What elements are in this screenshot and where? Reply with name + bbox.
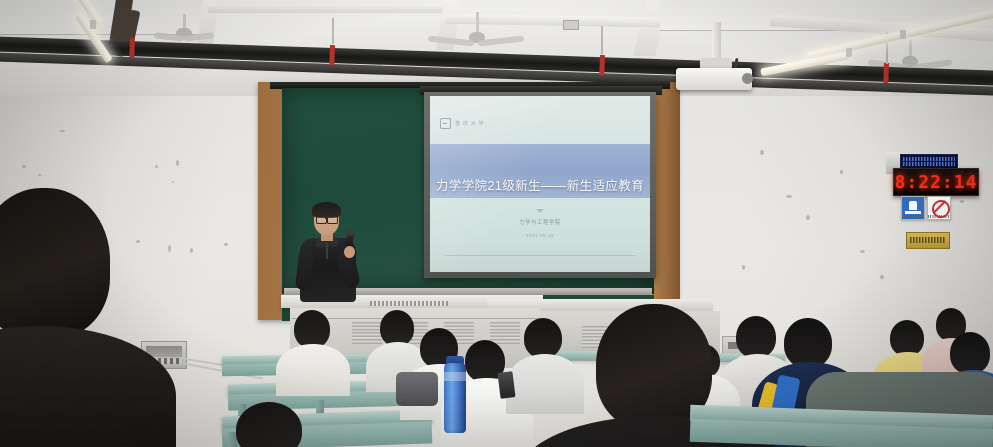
wall-mark bbox=[760, 150, 764, 155]
wall-mark bbox=[176, 160, 179, 166]
sign-caption-text bbox=[928, 215, 950, 218]
fan-rod bbox=[476, 12, 479, 34]
student-head bbox=[950, 332, 990, 374]
slide-subtitle: 力学与工程学院 bbox=[430, 218, 650, 226]
wall-mark bbox=[224, 243, 228, 246]
glasses-icon bbox=[327, 216, 338, 224]
student-shoulders bbox=[506, 354, 584, 414]
projector-pole bbox=[712, 22, 721, 62]
blue-sign-base-icon bbox=[905, 211, 921, 214]
tube-bracket bbox=[846, 48, 852, 57]
ceiling-projector bbox=[676, 68, 752, 90]
presenter-hand bbox=[344, 246, 355, 258]
rail-rod bbox=[601, 26, 603, 54]
plaque-text bbox=[910, 237, 946, 243]
projector-lens-icon bbox=[742, 73, 753, 84]
student-shoulders bbox=[276, 344, 350, 396]
sign-caption-text bbox=[902, 215, 924, 218]
wall-mark bbox=[880, 275, 884, 279]
slide-marker-icon bbox=[536, 209, 544, 213]
led-banner-row bbox=[903, 157, 955, 161]
led-banner-row bbox=[903, 162, 955, 166]
projection-screen[interactable]: 重 庆 大 学 力学学院21级新生——新生适应教育 力学与工程学院 2021.0… bbox=[430, 96, 650, 272]
lecture-hall-photo: 重 庆 大 学 力学学院21级新生——新生适应教育 力学与工程学院 2021.0… bbox=[0, 0, 993, 447]
slide-footer-line bbox=[445, 255, 634, 256]
glasses-bridge-icon bbox=[325, 218, 328, 219]
rail-hanger bbox=[883, 63, 889, 83]
slide-subtitle-block: 力学与工程学院 2021.09.18 bbox=[430, 198, 650, 238]
microphone-head-icon bbox=[345, 228, 354, 236]
wall-mark bbox=[172, 181, 174, 183]
rail-hanger bbox=[129, 38, 135, 58]
student-head bbox=[294, 310, 330, 348]
console-vent bbox=[352, 322, 382, 344]
wall-mark bbox=[136, 240, 140, 243]
wall-mark bbox=[22, 165, 26, 168]
presenter-placket bbox=[326, 243, 328, 259]
no-smoking-sign bbox=[927, 196, 951, 220]
wall-mark bbox=[38, 174, 41, 176]
wall-mark bbox=[860, 250, 865, 253]
backpack-on-desk bbox=[396, 372, 438, 406]
rail-hanger bbox=[599, 55, 605, 75]
student-head bbox=[784, 318, 832, 368]
wall-mark bbox=[786, 195, 792, 198]
wall-mark bbox=[60, 130, 65, 132]
tube-bracket bbox=[900, 30, 906, 39]
student-head bbox=[736, 316, 776, 358]
student-head bbox=[890, 320, 924, 356]
student-head bbox=[524, 318, 562, 358]
rail-hanger bbox=[329, 45, 335, 65]
smartphone-on-desk bbox=[497, 371, 515, 399]
wall-mark bbox=[840, 170, 843, 174]
wall-mark bbox=[960, 200, 964, 203]
student-head bbox=[380, 310, 414, 346]
console-seam bbox=[292, 318, 538, 319]
wall-mark bbox=[168, 245, 171, 252]
console-vent bbox=[490, 322, 520, 344]
rail-rod bbox=[332, 18, 334, 44]
blue-sign-glyph-icon bbox=[909, 201, 917, 210]
bottle-label bbox=[444, 372, 466, 381]
slide-title: 力学学院21级新生——新生适应教育 bbox=[430, 96, 650, 272]
tube-bracket bbox=[90, 20, 96, 29]
led-banner bbox=[900, 154, 958, 169]
slide-date: 2021.09.18 bbox=[430, 233, 650, 238]
ceiling-beam bbox=[208, 4, 448, 13]
wall-mark bbox=[155, 165, 158, 168]
clock-time: 8:22:14 bbox=[894, 169, 978, 195]
wall-mark bbox=[742, 265, 745, 270]
wall-mark bbox=[806, 215, 810, 220]
ceiling-fan bbox=[442, 12, 512, 56]
gold-wall-plaque bbox=[906, 232, 950, 249]
digital-clock: 8:22:14 bbox=[893, 168, 979, 196]
console-control-strip bbox=[370, 301, 448, 306]
blue-info-sign bbox=[901, 196, 925, 220]
ceiling-vent bbox=[563, 20, 579, 30]
wall-mark bbox=[190, 248, 193, 253]
